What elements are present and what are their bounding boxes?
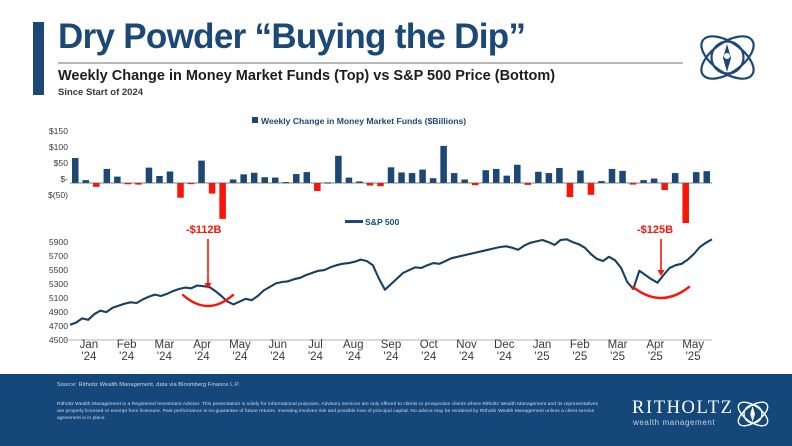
footer-logo-wordmark: RITHOLTZ	[632, 398, 734, 419]
x-axis-tick-month: Jun	[268, 339, 287, 351]
x-axis-tick: May'25	[671, 340, 715, 363]
x-axis-tick-month: Mar	[608, 339, 628, 351]
x-axis-tick-month: Mar	[155, 339, 175, 351]
footer-logo-tagline: wealth management	[633, 418, 715, 427]
x-axis-tick-month: Nov	[456, 339, 476, 351]
header: Dry Powder “Buying the Dip” Weekly Chang…	[0, 0, 792, 112]
annotation-layer	[0, 112, 792, 370]
annotation-smile-125b	[633, 287, 689, 298]
subtitle-period: Since Start of 2024	[58, 87, 143, 98]
annotation-label-125b: -$125B	[637, 224, 673, 236]
title-divider	[58, 62, 683, 64]
x-axis-tick-month: Apr	[646, 339, 664, 351]
x-axis-tick-month: Aug	[343, 339, 363, 351]
chart-area: Weekly Change in Money Market Funds ($Bi…	[0, 112, 792, 370]
annotation-label-112b: -$112B	[186, 224, 221, 236]
x-axis-tick-month: Feb	[570, 339, 590, 351]
x-axis-tick-month: May	[682, 339, 704, 351]
disclaimer-text: Ritholtz Wealth Management is a Register…	[57, 401, 602, 423]
x-axis-tick-year: '25	[671, 352, 715, 364]
annotation-arrow-125b	[658, 239, 665, 276]
subtitle: Weekly Change in Money Market Funds (Top…	[58, 68, 555, 84]
ritholtz-globe-icon	[690, 20, 765, 95]
footer-logo: RITHOLTZ wealth management	[632, 398, 782, 432]
annotation-smile-112b	[183, 295, 233, 306]
x-axis-tick-month: May	[229, 339, 251, 351]
title-accent-bar	[33, 22, 44, 95]
x-axis-tick-month: Dec	[494, 339, 514, 351]
x-axis-tick-month: Oct	[420, 339, 438, 351]
x-axis-tick-month: Jan	[80, 339, 99, 351]
source-note: Source: Ritholtz Wealth Management, data…	[57, 382, 240, 388]
page-title: Dry Powder “Buying the Dip”	[58, 17, 525, 57]
x-axis-tick-month: Jul	[308, 339, 323, 351]
x-axis-tick-month: Sep	[381, 339, 401, 351]
x-axis-tick-month: Apr	[193, 339, 211, 351]
x-axis-tick-month: Feb	[117, 339, 137, 351]
ritholtz-globe-icon	[732, 394, 774, 434]
x-axis-tick-month: Jan	[533, 339, 552, 351]
annotation-arrow-112b	[205, 239, 212, 289]
footer: Source: Ritholtz Wealth Management, data…	[0, 374, 792, 446]
